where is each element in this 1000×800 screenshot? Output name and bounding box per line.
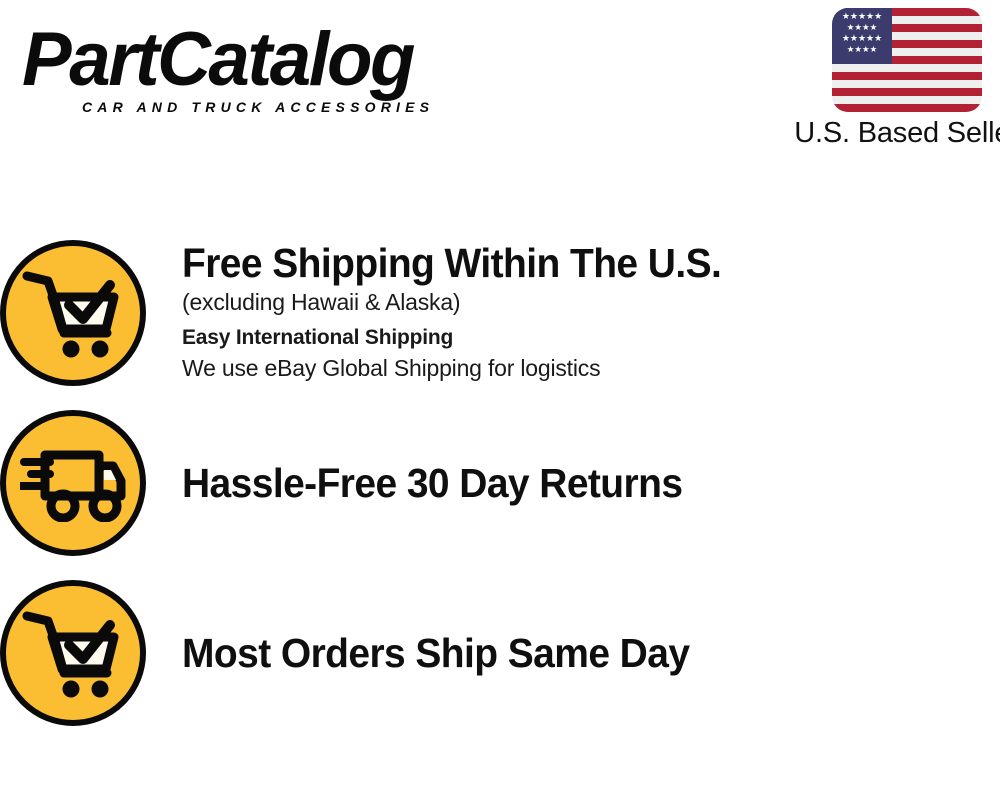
- feature-text: Hassle-Free 30 Day Returns: [146, 459, 1000, 507]
- feature-icon-wrap: [0, 580, 146, 726]
- delivery-truck-icon: [0, 410, 146, 556]
- us-flag-icon: ★★★★★ ★★★★ ★★★★★ ★★★★: [832, 8, 982, 112]
- feature-row: Most Orders Ship Same Day: [0, 568, 1000, 738]
- us-based-seller-label: U.S. Based Seller: [794, 116, 1000, 150]
- shopping-cart-check-icon: [0, 240, 146, 386]
- feature-subtitle: Easy International Shipping: [182, 323, 1000, 353]
- feature-title: Free Shipping Within The U.S.: [182, 239, 959, 287]
- feature-row: Free Shipping Within The U.S. (excluding…: [0, 228, 1000, 398]
- feature-icon-wrap: [0, 410, 146, 556]
- feature-title: Hassle-Free 30 Day Returns: [182, 459, 959, 507]
- feature-row: Hassle-Free 30 Day Returns: [0, 398, 1000, 568]
- feature-subtext: We use eBay Global Shipping for logistic…: [182, 353, 1000, 384]
- feature-text: Most Orders Ship Same Day: [146, 629, 1000, 677]
- feature-icon-wrap: [0, 240, 146, 386]
- shopping-cart-check-icon: [0, 580, 146, 726]
- seller-banner: PartCatalog CAR AND TRUCK ACCESSORIES ★★…: [0, 0, 1000, 800]
- feature-note: (excluding Hawaii & Alaska): [182, 287, 1000, 318]
- feature-title: Most Orders Ship Same Day: [182, 629, 959, 677]
- feature-list: Free Shipping Within The U.S. (excluding…: [0, 228, 1000, 738]
- feature-text: Free Shipping Within The U.S. (excluding…: [146, 239, 1000, 388]
- brand-logo[interactable]: PartCatalog CAR AND TRUCK ACCESSORIES: [22, 22, 492, 114]
- brand-wordmark: PartCatalog: [22, 22, 483, 98]
- flag-canton: ★★★★★ ★★★★ ★★★★★ ★★★★: [832, 8, 892, 64]
- us-based-seller-badge: ★★★★★ ★★★★ ★★★★★ ★★★★ U.S. Based Seller: [828, 8, 986, 150]
